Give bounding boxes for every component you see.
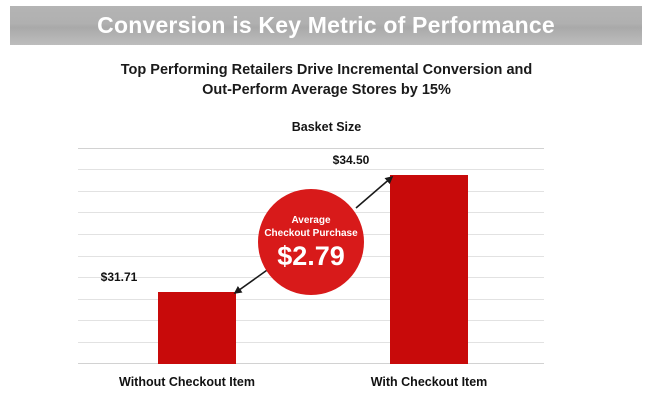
callout-circle: Average Checkout Purchase $2.79 xyxy=(258,189,364,295)
bar-value-with-checkout-item: $34.50 xyxy=(306,153,396,167)
subtitle-line-1: Top Performing Retailers Drive Increment… xyxy=(0,60,653,80)
callout-amount: $2.79 xyxy=(277,241,345,271)
bar-with-checkout-item xyxy=(390,175,468,364)
category-label-without-checkout-item: Without Checkout Item xyxy=(87,375,287,389)
gridline xyxy=(78,299,544,300)
slide-canvas: Conversion is Key Metric of Performance … xyxy=(0,0,653,407)
bar-without-checkout-item xyxy=(158,292,236,364)
gridline xyxy=(78,169,544,170)
subtitle: Top Performing Retailers Drive Increment… xyxy=(0,60,653,100)
title-banner: Conversion is Key Metric of Performance xyxy=(10,6,642,45)
gridline xyxy=(78,320,544,321)
bar-value-without-checkout-item: $31.71 xyxy=(74,270,164,284)
chart-title: Basket Size xyxy=(0,120,653,134)
category-label-with-checkout-item: With Checkout Item xyxy=(329,375,529,389)
gridline xyxy=(78,148,544,149)
callout-label-line-1: Average xyxy=(291,214,330,227)
subtitle-line-2: Out-Perform Average Stores by 15% xyxy=(0,80,653,100)
callout-label-line-2: Checkout Purchase xyxy=(264,227,357,240)
gridline-baseline xyxy=(78,363,544,364)
page-title: Conversion is Key Metric of Performance xyxy=(97,12,555,39)
gridline xyxy=(78,342,544,343)
